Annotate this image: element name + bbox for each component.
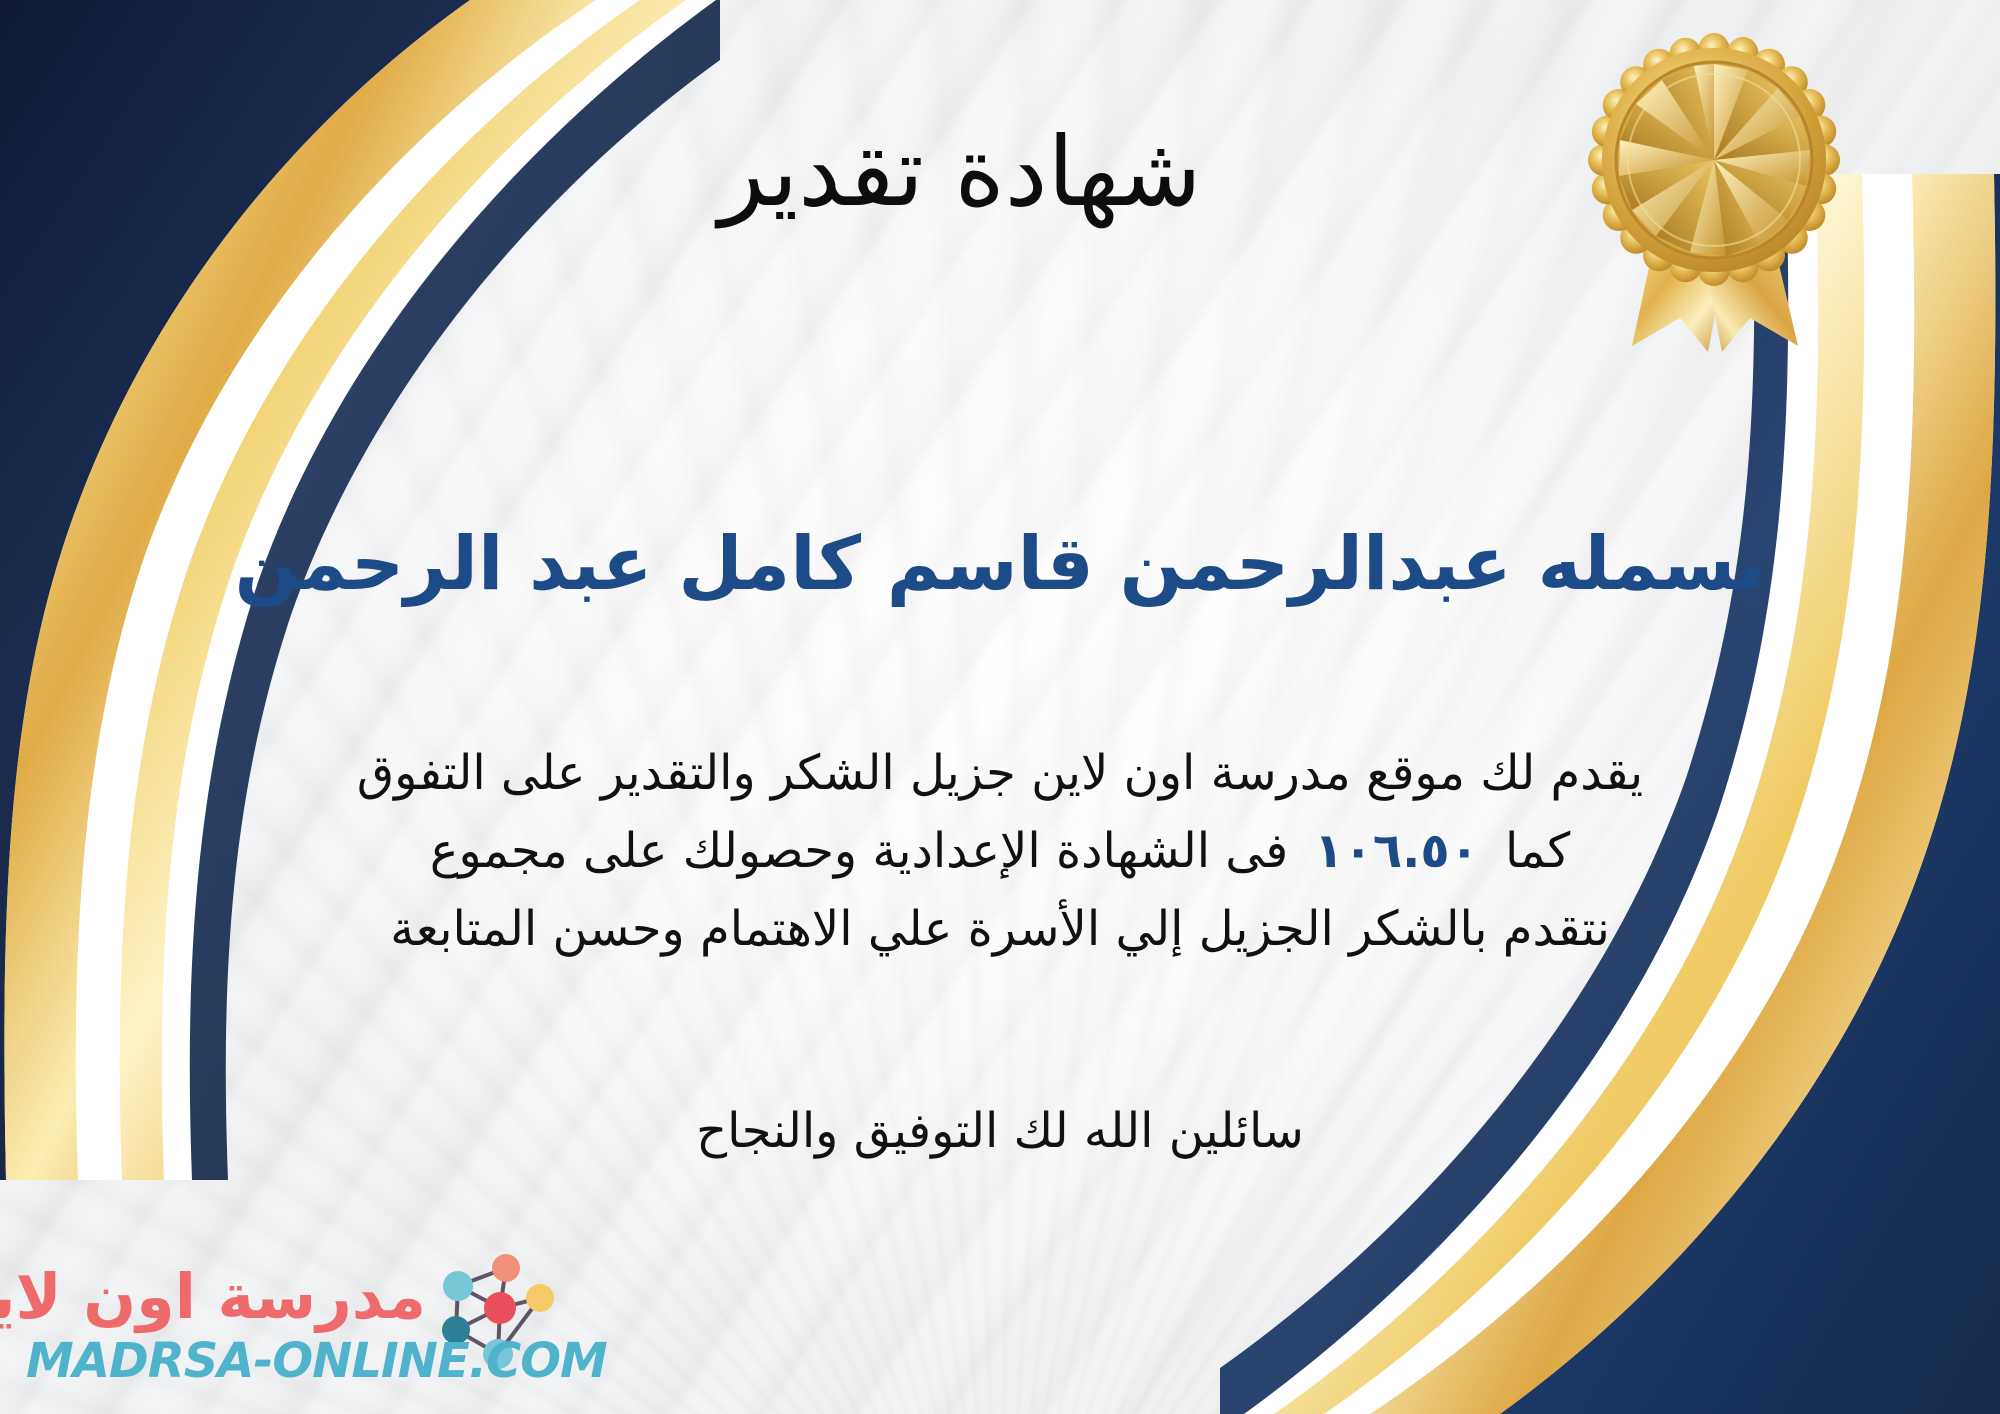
body-line-2-suffix: فى الشهادة الإعدادية وحصولك على مجموع [430, 823, 1288, 879]
brand-text: مدرسة اون لاين MADRSA-ONLINE.COM [26, 1266, 426, 1386]
body-line-3: نتقدم بالشكر الجزيل إلي الأسرة علي الاهت… [170, 891, 1830, 969]
total-score-value: ١٠٦.٥٠ [1288, 823, 1505, 879]
certificate-content: شهادة تقدير بسمله عبدالرحمن قاسم كامل عب… [0, 0, 2000, 1414]
body-line-2-prefix: كما [1505, 823, 1570, 879]
brand-domain: MADRSA-ONLINE.COM [26, 1336, 426, 1386]
body-line-1: يقدم لك موقع مدرسة اون لاين جزيل الشكر و… [170, 735, 1830, 813]
certificate-canvas: شهادة تقدير بسمله عبدالرحمن قاسم كامل عب… [0, 0, 2000, 1414]
closing-line: سائلين الله لك التوفيق والنجاح [170, 1095, 1830, 1167]
brand-arabic-name: مدرسة اون لاين [26, 1266, 426, 1328]
brand-logo[interactable]: مدرسة اون لاين MADRSA-ONLINE.COM [26, 1222, 566, 1392]
certificate-body: يقدم لك موقع مدرسة اون لاين جزيل الشكر و… [170, 735, 1830, 968]
recipient-name: بسمله عبدالرحمن قاسم كامل عبد الرحمن [80, 518, 1920, 611]
certificate-title: شهادة تقدير [0, 120, 2000, 226]
body-line-2: كما١٠٦.٥٠فى الشهادة الإعدادية وحصولك على… [170, 813, 1830, 891]
